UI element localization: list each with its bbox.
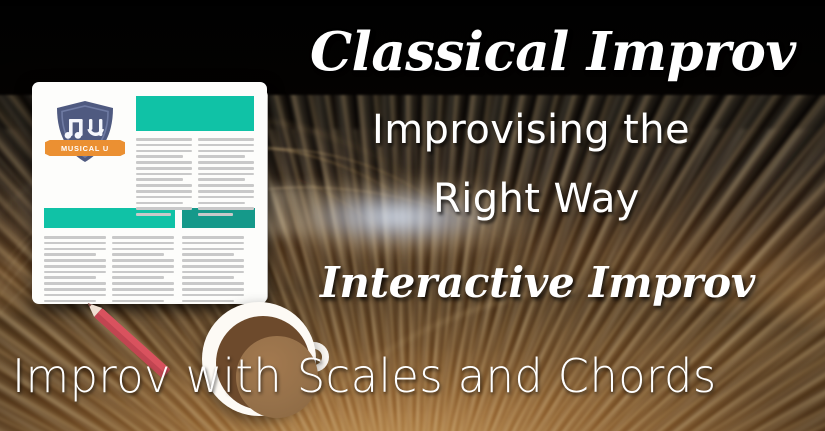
- text-line: [112, 300, 164, 303]
- text-line: [198, 202, 245, 205]
- newspaper-graphic: MUSICAL U: [26, 76, 282, 312]
- text-line: [198, 155, 245, 158]
- text-line: [136, 161, 192, 164]
- text-line: [44, 259, 106, 262]
- text-line: [136, 202, 183, 205]
- column-bottom-a: [44, 236, 106, 304]
- text-line: [44, 236, 106, 239]
- text-line: [44, 265, 106, 268]
- title-line-classical-improv: Classical Improv: [310, 21, 796, 83]
- text-line: [112, 294, 174, 297]
- text-line: [198, 178, 245, 181]
- text-line: [198, 184, 254, 187]
- text-line: [182, 248, 244, 251]
- text-line: [112, 271, 174, 274]
- text-line: [182, 242, 244, 245]
- text-line: [182, 282, 244, 285]
- text-line: [112, 259, 174, 262]
- text-line: [198, 196, 254, 199]
- text-line: [136, 178, 183, 181]
- text-line: [112, 253, 164, 256]
- text-line: [182, 265, 244, 268]
- text-line: [198, 167, 254, 170]
- text-line: [136, 207, 192, 210]
- column-top-right: [198, 138, 254, 219]
- text-line: [44, 300, 96, 303]
- text-line: [44, 282, 106, 285]
- text-line: [44, 242, 106, 245]
- text-line: [198, 150, 254, 153]
- text-line: [112, 276, 164, 279]
- text-line: [136, 138, 192, 141]
- text-line: [182, 288, 244, 291]
- title-line-interactive-improv: Interactive Improv: [320, 258, 755, 307]
- text-line: [112, 282, 174, 285]
- text-line: [198, 213, 233, 216]
- text-line: [198, 138, 254, 141]
- text-line: [44, 248, 106, 251]
- text-line: [182, 253, 234, 256]
- text-line: [136, 190, 192, 193]
- text-line: [198, 161, 254, 164]
- text-line: [112, 236, 174, 239]
- text-line: [44, 294, 106, 297]
- text-line: [198, 173, 254, 176]
- title-line-right-way: Right Way: [433, 176, 640, 222]
- newspaper-front-page: MUSICAL U: [32, 82, 267, 304]
- text-line: [198, 207, 254, 210]
- logo-brand-text: MUSICAL U: [61, 144, 109, 153]
- text-line: [136, 213, 171, 216]
- text-line: [182, 236, 244, 239]
- text-line: [198, 144, 254, 147]
- column-top-left: [136, 138, 192, 219]
- text-line: [182, 271, 244, 274]
- thumbnail-canvas: MUSICAL U Classi: [0, 0, 825, 431]
- text-line: [136, 184, 192, 187]
- column-bottom-c: [182, 236, 244, 304]
- text-line: [182, 294, 244, 297]
- text-line: [182, 276, 234, 279]
- column-bottom-b: [112, 236, 174, 304]
- text-line: [136, 167, 192, 170]
- text-line: [44, 253, 96, 256]
- text-line: [136, 196, 192, 199]
- text-line: [136, 173, 192, 176]
- text-line: [136, 144, 192, 147]
- text-line: [198, 190, 254, 193]
- text-line: [112, 265, 174, 268]
- musical-u-logo: MUSICAL U: [50, 100, 120, 170]
- title-line-improvising-the: Improvising the: [372, 107, 690, 153]
- text-line: [44, 276, 96, 279]
- text-line: [112, 288, 174, 291]
- text-line: [136, 150, 192, 153]
- title-line-improv-with-scales-and-chords: Improv with Scales and Chords: [12, 349, 717, 403]
- logo-ribbon: MUSICAL U: [45, 140, 125, 156]
- text-line: [112, 248, 174, 251]
- text-line: [44, 288, 106, 291]
- text-line: [112, 242, 174, 245]
- text-line: [182, 259, 244, 262]
- text-line: [44, 271, 106, 274]
- text-line: [136, 155, 183, 158]
- headline-block: [136, 96, 254, 131]
